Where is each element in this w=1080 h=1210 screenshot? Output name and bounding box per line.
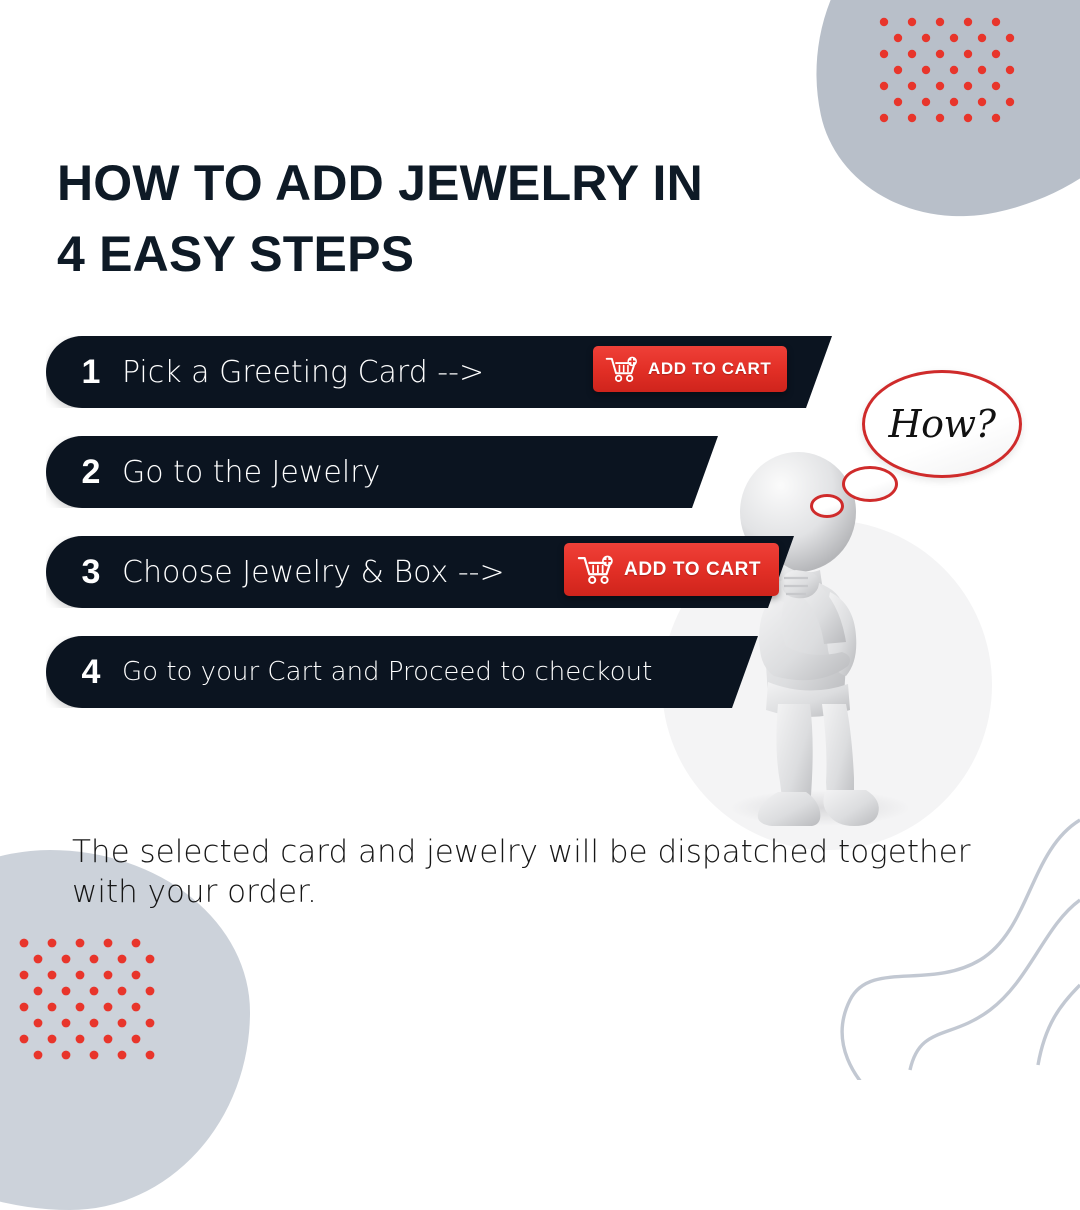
step-number-3: 3 [74,553,108,592]
steps-list: 1 Pick a Greeting Card --> ADD TO CART 2… [46,336,946,736]
step-label-1: Pick a Greeting Card --> [122,355,484,390]
step-number-4: 4 [74,653,108,692]
add-to-cart-label-2: ADD TO CART [624,559,761,581]
title-line-2: 4 EASY STEPS [57,219,937,290]
add-to-cart-label-1: ADD TO CART [648,359,771,379]
thought-bubble-text: How? [889,402,996,446]
step-label-3: Choose Jewelry & Box --> [122,555,505,590]
shopping-cart-plus-icon [605,355,639,383]
footer-note: The selected card and jewelry will be di… [72,832,972,913]
step-label-4: Go to your Cart and Proceed to checkout [122,657,652,687]
step-item-3: 3 Choose Jewelry & Box --> ADD TO CART [46,536,946,608]
step-number-1: 1 [74,353,108,392]
add-to-cart-button-1[interactable]: ADD TO CART [593,346,787,392]
title-line-1: HOW TO ADD JEWELRY IN [57,148,937,219]
step-bar-4: 4 Go to your Cart and Proceed to checkou… [46,636,758,708]
step-label-2: Go to the Jewelry [122,455,380,490]
step-bar-2: 2 Go to the Jewelry [46,436,718,508]
step-item-4: 4 Go to your Cart and Proceed to checkou… [46,636,946,708]
step-item-2: 2 Go to the Jewelry [46,436,946,508]
thought-bubble-main: How? [862,370,1022,478]
page-title: HOW TO ADD JEWELRY IN 4 EASY STEPS [57,148,937,290]
thought-bubble-dot-small [810,494,844,518]
step-item-1: 1 Pick a Greeting Card --> ADD TO CART [46,336,946,408]
add-to-cart-button-2[interactable]: ADD TO CART [564,543,779,596]
thought-bubble-dot-large [842,466,898,502]
bottom-left-dot-grid-icon [18,935,188,1060]
shopping-cart-plus-icon [577,554,615,585]
top-right-dot-grid-icon [878,14,1038,124]
step-number-2: 2 [74,453,108,492]
thought-bubble: How? [862,370,1022,478]
